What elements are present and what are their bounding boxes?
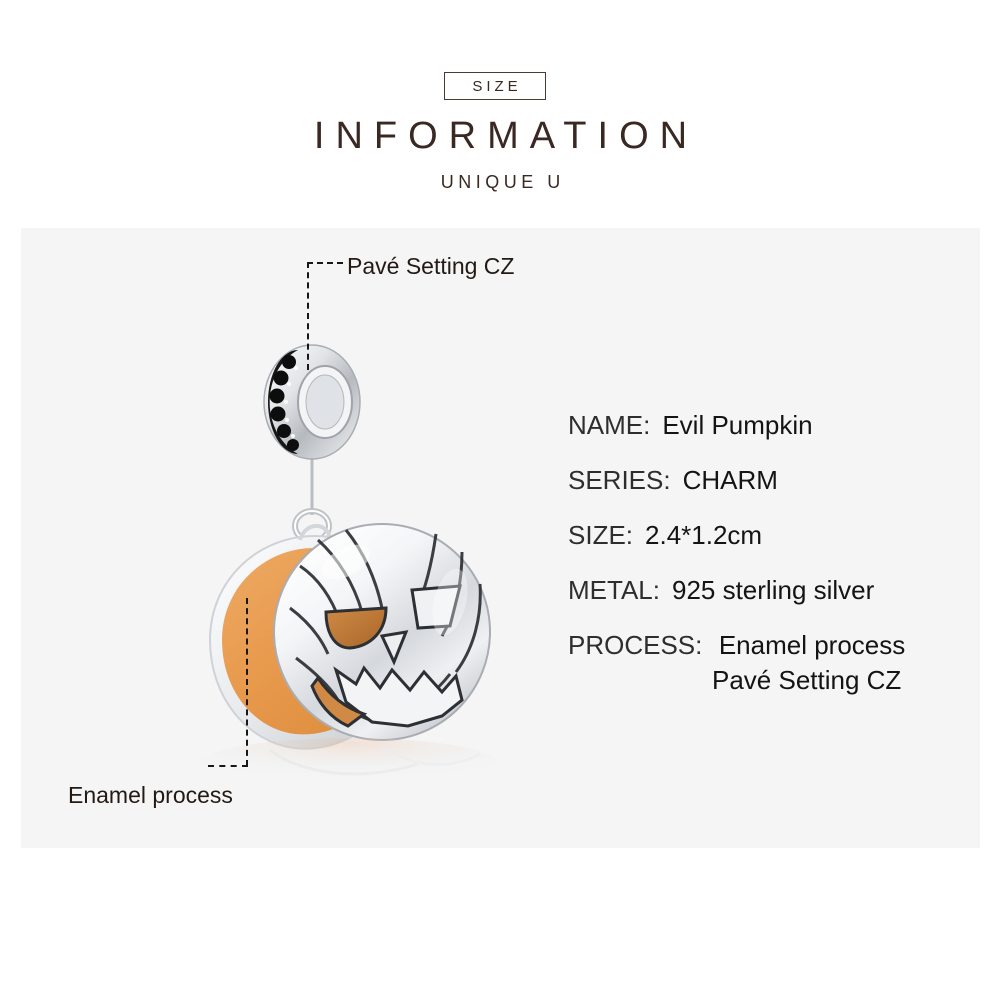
spec-label-size: SIZE: (568, 520, 633, 551)
spec-row-size: SIZE: 2.4*1.2cm (568, 520, 968, 551)
annotation-enamel-process: Enamel process (68, 782, 233, 809)
spec-value-process: Enamel process (719, 630, 905, 660)
spec-value-size: 2.4*1.2cm (645, 520, 762, 551)
enamel-leader-line-vertical (246, 598, 248, 766)
header-section: SIZE INFORMATION UNIQUE U (0, 0, 1001, 228)
spec-row-name: NAME: Evil Pumpkin (568, 410, 968, 441)
spec-row-metal: METAL: 925 sterling silver (568, 575, 968, 606)
spec-value-name: Evil Pumpkin (662, 410, 812, 441)
product-spec-list: NAME: Evil Pumpkin SERIES: CHARM SIZE: 2… (568, 410, 968, 696)
spec-label-series: SERIES: (568, 465, 671, 496)
pumpkin-ball (274, 524, 490, 740)
size-badge-label: SIZE (468, 78, 521, 95)
spec-value-process-secondary: Pavé Setting CZ (712, 665, 968, 696)
pave-leader-line-vertical (307, 262, 309, 370)
spec-row-process: PROCESS: Enamel process Pavé Setting CZ (568, 630, 968, 696)
size-badge: SIZE (444, 72, 546, 100)
pave-bail (264, 345, 360, 459)
spec-label-name: NAME: (568, 410, 650, 441)
spec-value-metal: 925 sterling silver (672, 575, 874, 606)
spec-label-process: PROCESS: (568, 630, 702, 660)
surface-reflection (200, 738, 500, 790)
spec-value-series: CHARM (683, 465, 778, 496)
spec-row-series: SERIES: CHARM (568, 465, 968, 496)
page-title: INFORMATION (0, 115, 1001, 158)
annotation-pave-setting-cz: Pavé Setting CZ (347, 253, 514, 280)
product-image (150, 340, 530, 790)
page-subtitle: UNIQUE U (0, 172, 1001, 193)
enamel-leader-line-horizontal (208, 765, 248, 767)
spec-label-metal: METAL: (568, 575, 660, 606)
pave-leader-line-horizontal (307, 262, 343, 264)
